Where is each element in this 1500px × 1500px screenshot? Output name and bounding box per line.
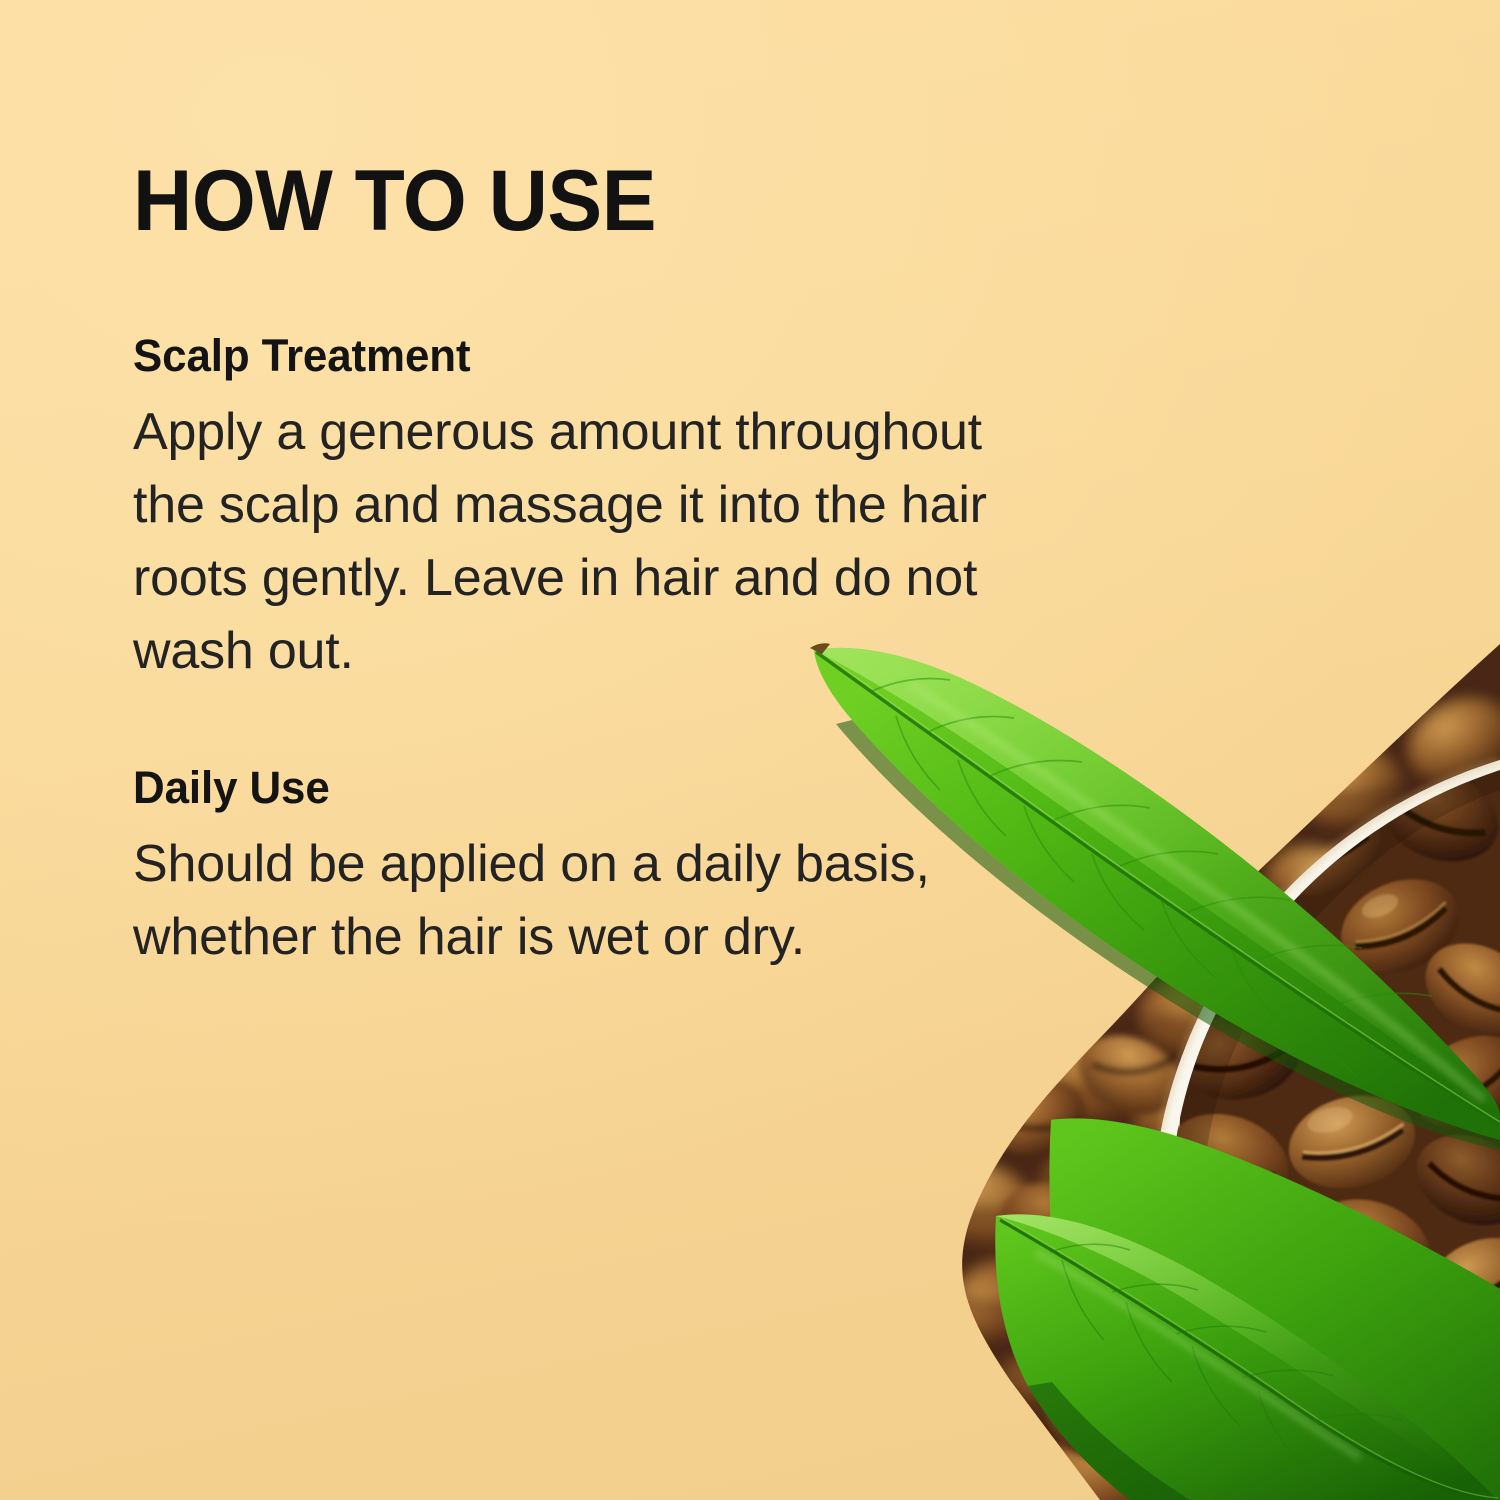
body-line: wash out. [133,615,1053,688]
body-line: the scalp and massage it into the hair [133,469,1053,542]
body-line: whether the hair is wet or dry. [133,901,1053,974]
body-line: Apply a generous amount throughout [133,396,1053,469]
section-heading-scalp-treatment: Scalp Treatment [133,330,1050,382]
section-body-scalp-treatment: Apply a generous amount throughout the s… [133,396,1053,688]
text-content-panel: HOW TO USE Scalp Treatment Apply a gener… [133,0,1093,1500]
section-body-daily-use: Should be applied on a daily basis, whet… [133,828,1053,974]
section-heading-daily-use: Daily Use [133,762,1050,814]
section-daily-use: Daily Use Should be applied on a daily b… [133,762,1073,974]
body-line: Should be applied on a daily basis, [133,828,1053,901]
body-line: roots gently. Leave in hair and do not [133,542,1053,615]
page-title: HOW TO USE [133,158,656,244]
section-scalp-treatment: Scalp Treatment Apply a generous amount … [133,330,1073,688]
